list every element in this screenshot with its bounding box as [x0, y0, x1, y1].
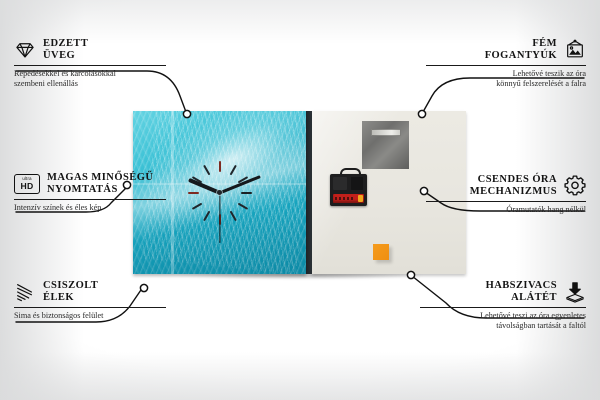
- callout-divider: [14, 65, 166, 66]
- foam-spacer-pad: [373, 244, 389, 260]
- callout-description: Sima és biztonságos felület: [14, 311, 166, 321]
- quiet-clock-mechanism: [330, 168, 367, 206]
- callout-title: HABSZIVACS ALÁTÉT: [486, 280, 557, 304]
- callout-description: Lehetővé teszik az óra könnyű felszerelé…: [426, 69, 586, 89]
- callout-divider: [426, 65, 586, 66]
- callout-title: FÉM FOGANTYÚK: [485, 38, 557, 62]
- product-wall-clock: [133, 111, 466, 277]
- callout-title: CSENDES ÓRA MECHANIZMUS: [470, 174, 557, 198]
- metal-hanger-bracket: [362, 121, 409, 169]
- infographic-canvas: EDZETT ÜVEG Repedésekkel és karcolásokka…: [0, 0, 600, 400]
- callout-tempered-glass: EDZETT ÜVEG Repedésekkel és karcolásokka…: [14, 38, 166, 89]
- polished-edges-icon: [14, 281, 36, 303]
- battery: [333, 194, 364, 203]
- ultra-hd-badge-icon: ultraHD: [14, 174, 40, 194]
- callout-divider: [14, 199, 166, 200]
- gear-icon: [564, 175, 586, 197]
- callout-polished-edges: CSISZOLT ÉLEK Sima és biztonságos felüle…: [14, 280, 166, 321]
- callout-divider: [426, 201, 586, 202]
- callout-description: Repedésekkel és karcolásokkal szembeni e…: [14, 69, 166, 89]
- callout-divider: [14, 307, 166, 308]
- callout-title: CSISZOLT ÉLEK: [43, 280, 98, 304]
- callout-foam-pad: HABSZIVACS ALÁTÉT Lehetővé teszi az óra …: [420, 280, 586, 331]
- callout-title: EDZETT ÜVEG: [43, 38, 88, 62]
- callout-description: Lehetővé teszi az óra egyenletes távolsá…: [420, 311, 586, 331]
- callout-title: MAGAS MINŐSÉGŰ NYOMTATÁS: [47, 172, 153, 196]
- callout-quiet-mechanism: CSENDES ÓRA MECHANIZMUS Óramutatók hang …: [426, 174, 586, 215]
- hanging-picture-frame-icon: [564, 39, 586, 61]
- clock-center-hub: [217, 190, 222, 195]
- second-hand: [219, 193, 220, 243]
- callout-description: Óramutatók hang nélkül: [426, 205, 586, 215]
- callout-description: Intenzív színek és éles kép: [14, 203, 166, 213]
- callout-divider: [420, 307, 586, 308]
- callout-metal-handles: FÉM FOGANTYÚK Lehetővé teszik az óra kön…: [426, 38, 586, 89]
- callout-high-quality-print: ultraHD MAGAS MINŐSÉGŰ NYOMTATÁS Intenzí…: [14, 172, 166, 213]
- diamond-gem-icon: [14, 39, 36, 61]
- arrow-onto-pad-icon: [564, 281, 586, 303]
